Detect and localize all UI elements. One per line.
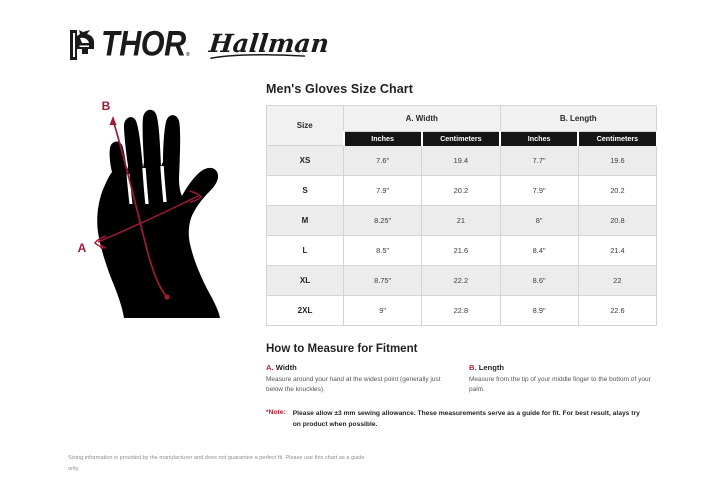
column-header-width-centimeters: Centimeters	[422, 132, 500, 146]
size-chart-table: Size A. Width B. Length Inches Centimete…	[266, 105, 658, 326]
cell-width-inches: 8.5"	[344, 236, 422, 266]
cell-length-inches: 7.9"	[500, 176, 578, 206]
column-header-length-centimeters: Centimeters	[578, 132, 656, 146]
how-to-measure-title: How to Measure for Fitment	[266, 343, 658, 355]
table-body: XS 7.6" 19.4 7.7" 19.6 S 7.9" 20.2 7.9" …	[267, 146, 657, 326]
cell-length-centimeters: 22.6	[578, 296, 656, 326]
cell-length-inches: 8.6"	[500, 266, 578, 296]
cell-width-inches: 7.9"	[344, 176, 422, 206]
table-row: XS 7.6" 19.4 7.7" 19.6	[267, 146, 657, 176]
measure-instruction-width: A. Width Measure around your hand at the…	[266, 363, 455, 395]
hand-silhouette-icon	[97, 110, 220, 318]
table-row: XL 8.75" 22.2 8.6" 22	[267, 266, 657, 296]
measure-name-width: Width	[276, 363, 297, 372]
hand-measurement-diagram: B A	[62, 96, 272, 326]
cell-size: L	[267, 236, 344, 266]
cell-length-centimeters: 22	[578, 266, 656, 296]
cell-size: S	[267, 176, 344, 206]
cell-width-centimeters: 21.6	[422, 236, 500, 266]
table-group-header-row: Size A. Width B. Length	[267, 106, 657, 132]
cell-size: 2XL	[267, 296, 344, 326]
brand-header: THOR ® Hallman	[68, 28, 327, 62]
page-title: Men's Gloves Size Chart	[266, 82, 658, 96]
cell-width-inches: 7.6"	[344, 146, 422, 176]
table-row: M 8.25" 21 8" 20.8	[267, 206, 657, 236]
cell-width-centimeters: 20.2	[422, 176, 500, 206]
size-chart-panel: Men's Gloves Size Chart Size A. Width B.…	[266, 82, 658, 431]
thor-wordmark: THOR	[100, 27, 186, 62]
table-row: L 8.5" 21.6 8.4" 21.4	[267, 236, 657, 266]
measure-heading-length: B. Length	[469, 363, 658, 372]
diagram-label-length: B	[102, 99, 111, 113]
column-header-size: Size	[267, 106, 344, 146]
table-row: 2XL 9" 22.8 8.9" 22.6	[267, 296, 657, 326]
cell-width-centimeters: 22.8	[422, 296, 500, 326]
measure-instruction-length: B. Length Measure from the tip of your m…	[469, 363, 658, 395]
cell-size: XL	[267, 266, 344, 296]
cell-size: XS	[267, 146, 344, 176]
thor-hammer-helmet-icon	[68, 28, 98, 62]
cell-length-centimeters: 20.2	[578, 176, 656, 206]
footer-disclaimer: Sizing information is provided by the ma…	[68, 453, 368, 474]
cell-length-inches: 8.4"	[500, 236, 578, 266]
column-group-header-width: A. Width	[344, 106, 501, 132]
cell-size: M	[267, 206, 344, 236]
note-text: Please allow ±3 mm sewing allowance. The…	[293, 409, 648, 430]
column-header-width-inches: Inches	[344, 132, 422, 146]
diagram-label-width: A	[78, 241, 87, 255]
cell-width-centimeters: 22.2	[422, 266, 500, 296]
measure-text-length: Measure from the tip of your middle fing…	[469, 375, 658, 395]
cell-width-inches: 8.75"	[344, 266, 422, 296]
thor-logo: THOR ®	[68, 28, 190, 62]
cell-width-inches: 9"	[344, 296, 422, 326]
cell-length-centimeters: 20.8	[578, 206, 656, 236]
how-to-measure-columns: A. Width Measure around your hand at the…	[266, 363, 658, 395]
measure-letter-a: A.	[266, 363, 274, 372]
cell-length-inches: 7.7"	[500, 146, 578, 176]
hallman-underline-flourish	[210, 53, 306, 60]
measure-text-width: Measure around your hand at the widest p…	[266, 375, 455, 395]
cell-length-inches: 8"	[500, 206, 578, 236]
cell-length-inches: 8.9"	[500, 296, 578, 326]
measure-name-length: Length	[479, 363, 504, 372]
cell-length-centimeters: 21.4	[578, 236, 656, 266]
note-label: *Note:	[266, 409, 286, 430]
cell-width-inches: 8.25"	[344, 206, 422, 236]
sewing-allowance-note: *Note: Please allow ±3 mm sewing allowan…	[266, 409, 648, 430]
cell-width-centimeters: 19.4	[422, 146, 500, 176]
hallman-logo: Hallman	[208, 31, 328, 59]
how-to-measure-section: How to Measure for Fitment A. Width Meas…	[266, 343, 658, 395]
measure-heading-width: A. Width	[266, 363, 455, 372]
column-header-length-inches: Inches	[500, 132, 578, 146]
cell-length-centimeters: 19.6	[578, 146, 656, 176]
column-group-header-length: B. Length	[500, 106, 657, 132]
table-head: Size A. Width B. Length Inches Centimete…	[267, 106, 657, 146]
cell-width-centimeters: 21	[422, 206, 500, 236]
table-row: S 7.9" 20.2 7.9" 20.2	[267, 176, 657, 206]
thor-trademark-symbol: ®	[186, 52, 190, 62]
measure-letter-b: B.	[469, 363, 477, 372]
